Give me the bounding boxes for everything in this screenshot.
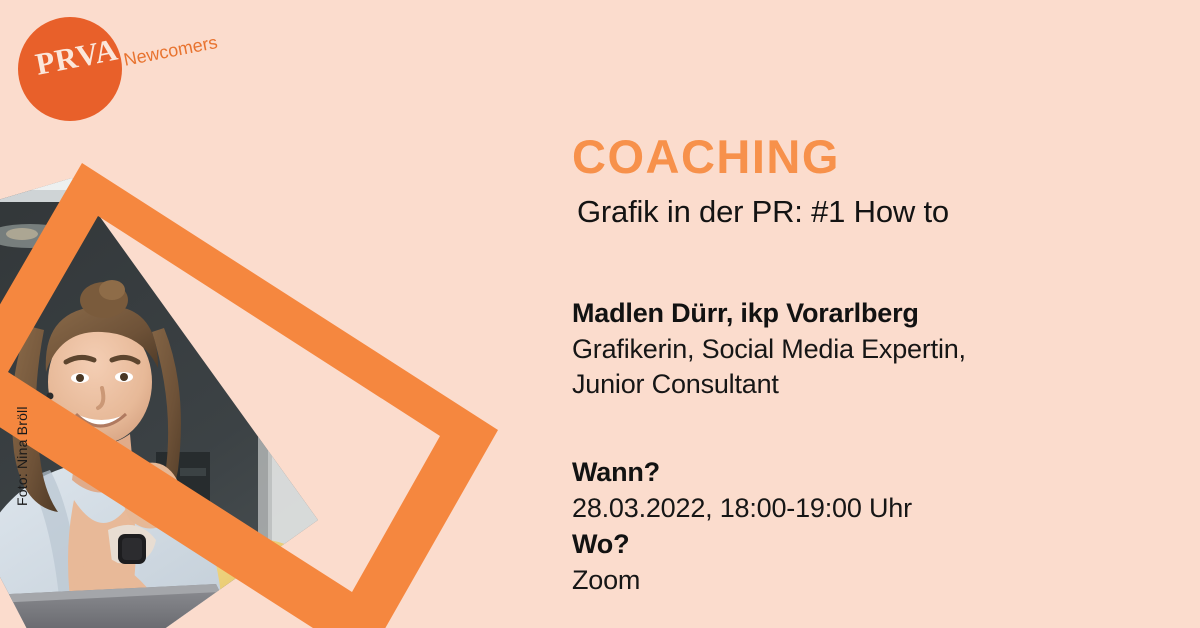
- event-announcement-poster: PRVA Newcomers: [0, 0, 1200, 628]
- speaker-role-line-1: Grafikerin, Social Media Expertin,: [572, 332, 966, 368]
- where-value: Zoom: [572, 563, 912, 599]
- speaker-name: Madlen Dürr, ikp Vorarlberg: [572, 296, 966, 332]
- when-value: 28.03.2022, 18:00-19:00 Uhr: [572, 491, 912, 527]
- speaker-role-line-2: Junior Consultant: [572, 367, 966, 403]
- portrait-artwork-svg: [0, 0, 560, 628]
- where-label: Wo?: [572, 527, 912, 563]
- when-label: Wann?: [572, 455, 912, 491]
- page-title: COACHING: [572, 133, 840, 180]
- speaker-info: Madlen Dürr, ikp Vorarlberg Grafikerin, …: [572, 296, 966, 403]
- event-details-column: COACHING Grafik in der PR: #1 How to Mad…: [568, 0, 1188, 628]
- portrait-artwork: Foto: Nina Bröll: [0, 0, 560, 628]
- event-logistics: Wann? 28.03.2022, 18:00-19:00 Uhr Wo? Zo…: [572, 455, 912, 599]
- page-subtitle: Grafik in der PR: #1 How to: [577, 194, 949, 230]
- photo-credit-label: Foto: Nina Bröll: [14, 386, 30, 506]
